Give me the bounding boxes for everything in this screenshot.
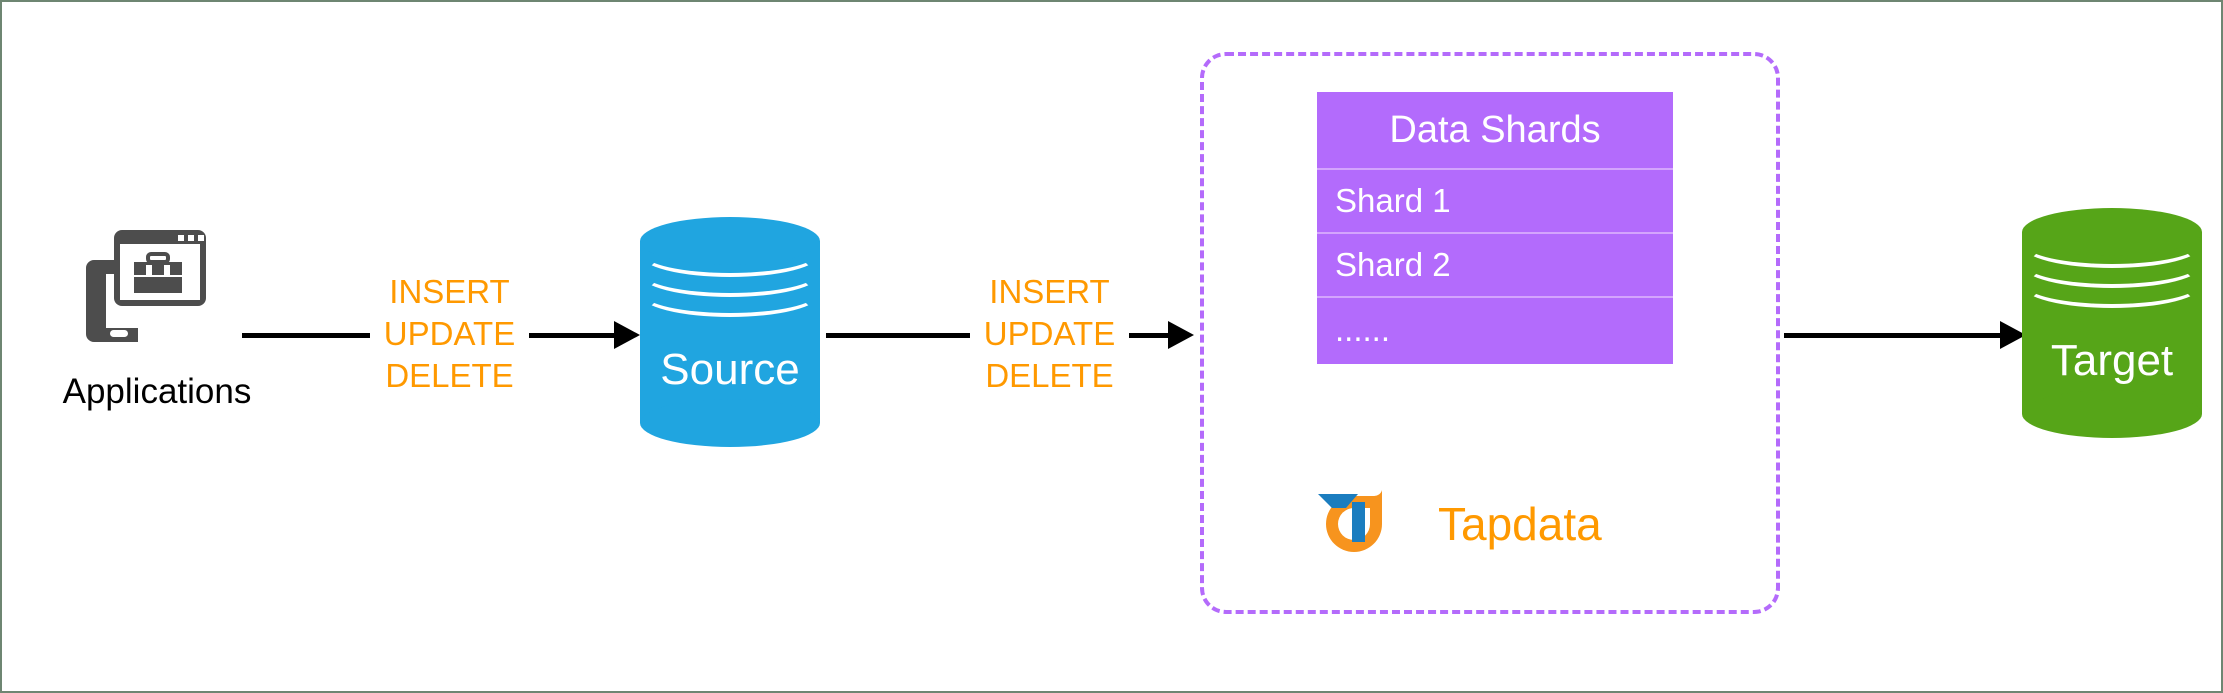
op-update: UPDATE bbox=[372, 313, 527, 355]
tapdata-logo-icon bbox=[1312, 482, 1396, 566]
applications-label: Applications bbox=[22, 372, 292, 412]
shard-row-more[interactable]: ...... bbox=[1317, 298, 1673, 362]
op-insert: INSERT bbox=[372, 271, 527, 313]
tapdata-brand: Tapdata bbox=[1312, 474, 1682, 574]
source-cylinder-ring-3 bbox=[640, 271, 820, 317]
target-cylinder-bottom bbox=[2022, 390, 2202, 438]
edge-source-to-tapdata-arrowhead bbox=[1168, 321, 1194, 349]
edge-applications-to-source-operations: INSERT UPDATE DELETE bbox=[370, 271, 529, 397]
edge-applications-to-source-arrowhead bbox=[614, 321, 640, 349]
edge-source-to-tapdata-operations: INSERT UPDATE DELETE bbox=[970, 271, 1129, 397]
op-delete: DELETE bbox=[372, 355, 527, 397]
edge-tapdata-to-target-line bbox=[1784, 333, 2006, 338]
shard-row-2[interactable]: Shard 2 bbox=[1317, 234, 1673, 298]
node-target-database[interactable]: Target bbox=[2022, 208, 2202, 438]
diagram-canvas: Applications INSERT UPDATE DELETE Source… bbox=[0, 0, 2223, 693]
op-update: UPDATE bbox=[972, 313, 1127, 355]
target-cylinder-ring-3 bbox=[2022, 262, 2202, 308]
source-cylinder-bottom bbox=[640, 399, 820, 447]
tapdata-wordmark: Tapdata bbox=[1438, 497, 1602, 551]
target-label: Target bbox=[2022, 336, 2202, 386]
data-shards-title: Data Shards bbox=[1317, 92, 1673, 170]
node-source-database[interactable]: Source bbox=[640, 217, 820, 447]
applications-browser-phone-icon bbox=[58, 227, 208, 357]
shard-row-1[interactable]: Shard 1 bbox=[1317, 170, 1673, 234]
op-insert: INSERT bbox=[972, 271, 1127, 313]
source-label: Source bbox=[640, 345, 820, 395]
data-shards-table[interactable]: Data Shards Shard 1 Shard 2 ...... bbox=[1317, 92, 1673, 364]
op-delete: DELETE bbox=[972, 355, 1127, 397]
